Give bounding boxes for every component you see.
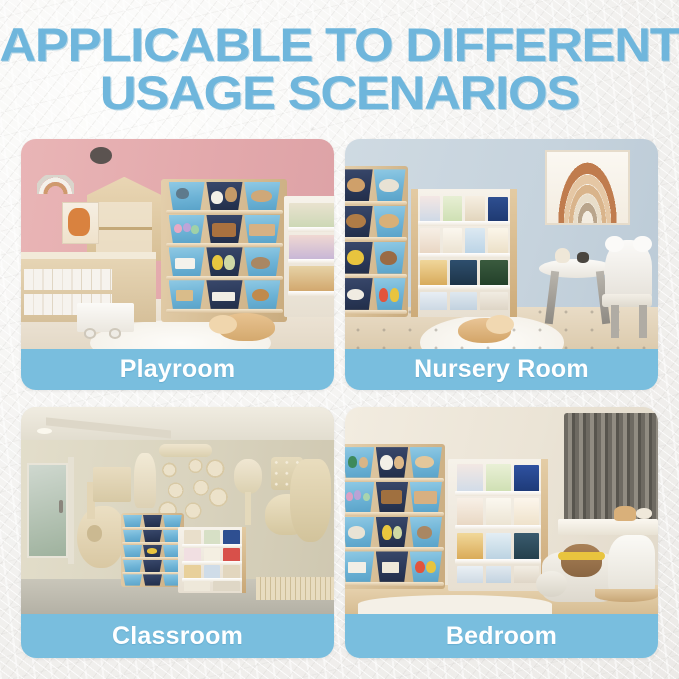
book: [443, 228, 463, 254]
book-rack-row: [289, 235, 334, 259]
organizer-tier: [169, 280, 281, 309]
book: [420, 228, 440, 254]
ceiling-light: [37, 428, 53, 434]
book-row: [184, 581, 240, 590]
book-row: [457, 464, 539, 490]
table-toy: [555, 248, 571, 263]
toy-cart-wheel-left: [84, 328, 97, 339]
storage-bin: [376, 551, 408, 581]
book: [420, 196, 440, 222]
storage-bin: [345, 169, 373, 201]
book: [289, 266, 334, 290]
organizer-tier: [345, 482, 442, 512]
bench-toy: [614, 506, 636, 520]
storage-bin: [345, 206, 373, 238]
book: [443, 196, 463, 222]
toy-storage-organizer: [345, 444, 445, 589]
book: [223, 565, 240, 578]
scenario-caption-nursery-room: Nursery Room: [345, 349, 658, 390]
storage-bin: [123, 574, 142, 585]
organizer-tier: [123, 560, 182, 573]
book-rack-row: [289, 266, 334, 290]
organizer-tier: [345, 551, 442, 581]
book: [420, 260, 447, 286]
storage-bin: [374, 206, 406, 238]
organizer-tier: [123, 515, 182, 528]
storage-bin: [376, 447, 408, 477]
book-row: [420, 260, 507, 286]
bear-plush: [561, 544, 602, 577]
organizer-tier: [345, 169, 406, 201]
book: [457, 498, 482, 524]
book: [465, 228, 485, 254]
organizer-tier: [345, 278, 406, 310]
storage-bin: [169, 215, 205, 244]
block-shelf: [256, 577, 334, 600]
shelf-lip: [418, 221, 510, 226]
storage-bin: [244, 280, 280, 309]
storage-bin: [376, 482, 408, 512]
shelf-side-right: [510, 189, 517, 317]
organizer-tier: [169, 247, 281, 276]
storage-bin: [410, 551, 442, 581]
scenario-photo-playroom: [21, 139, 334, 349]
scenario-grid: Playroom: [21, 139, 658, 658]
organizer-shelf: [345, 582, 444, 586]
storage-bin: [345, 278, 373, 310]
book: [457, 566, 482, 583]
door-frame-right: [68, 457, 74, 565]
shelf-lip: [455, 559, 541, 564]
book: [486, 464, 511, 490]
book: [184, 565, 201, 578]
toy-storage-organizer: [345, 166, 408, 317]
organizer-tier: [169, 215, 281, 244]
toy-storage-organizer: [121, 513, 184, 588]
rainbow-arch: [555, 156, 621, 223]
book-rack-lip: [288, 227, 334, 232]
book: [486, 533, 511, 559]
book-rack-side: [242, 527, 247, 593]
shelf-side-left: [411, 189, 418, 317]
organizer-tier: [345, 447, 442, 477]
book: [480, 292, 507, 310]
shelf-lip: [418, 253, 510, 258]
curtains: [564, 413, 658, 523]
book: [184, 581, 211, 590]
scenario-photo-bedroom: [345, 407, 658, 614]
book-row: [457, 566, 539, 583]
book: [488, 228, 508, 254]
book: [486, 498, 511, 524]
storage-bin: [410, 517, 442, 547]
book: [480, 260, 507, 286]
scenario-caption-playroom: Playroom: [21, 349, 334, 390]
page-title-line-2: USAGE SCENARIOS: [0, 70, 679, 115]
book: [223, 548, 240, 561]
organizer-tier: [345, 206, 406, 238]
wall-panel-square: [93, 467, 131, 502]
shelf-divider: [96, 227, 152, 230]
book-row: [184, 548, 240, 561]
organizer-tier: [345, 517, 442, 547]
storage-bin: [123, 545, 142, 558]
shelf-lip: [455, 525, 541, 530]
storage-bin: [123, 560, 142, 573]
scenario-card-bedroom[interactable]: Bedroom: [345, 407, 658, 658]
storage-bin: [345, 242, 373, 274]
storage-bin: [345, 517, 374, 547]
book: [289, 235, 334, 259]
page-title-line-1: APPLICABLE TO DIFFERENT: [0, 22, 679, 67]
scenario-card-playroom[interactable]: Playroom: [21, 139, 334, 390]
organizer-tier: [345, 242, 406, 274]
storage-bin: [169, 247, 205, 276]
drum-roll-wall-decor: [159, 444, 212, 456]
book: [514, 465, 539, 491]
storage-bin: [410, 482, 442, 512]
book: [450, 292, 477, 310]
organizer-tier: [169, 182, 281, 211]
storage-bin: [143, 515, 162, 528]
book: [465, 196, 485, 222]
storage-bin: [374, 169, 406, 201]
picture-book-shelf: [411, 189, 517, 317]
scenario-caption-bedroom: Bedroom: [345, 614, 658, 658]
storage-bin: [206, 215, 242, 244]
book: [514, 533, 539, 559]
storage-bin: [376, 517, 408, 547]
scenario-card-nursery-room[interactable]: Nursery Room: [345, 139, 658, 390]
storage-bin: [345, 447, 374, 477]
book-row: [457, 498, 539, 524]
book: [486, 566, 511, 583]
storage-bin: [410, 447, 442, 477]
cubby-bin-row: [24, 269, 112, 290]
storage-bin: [244, 182, 280, 211]
book: [514, 498, 539, 524]
book-row: [184, 530, 240, 543]
book-row: [457, 533, 539, 559]
storage-bin: [169, 280, 205, 309]
organizer-tier: [123, 574, 182, 585]
book: [184, 530, 201, 543]
book-row: [420, 292, 507, 310]
book: [204, 565, 221, 578]
glass-door-handle: [59, 500, 64, 512]
table-toy-2: [577, 252, 590, 263]
book: [457, 533, 482, 559]
storage-bin: [206, 280, 242, 309]
window-bench: [558, 519, 658, 536]
toy-cart-wheel-right: [109, 328, 122, 339]
book-row: [420, 228, 507, 254]
microphone-stem: [245, 492, 251, 525]
bench-toy-2: [636, 508, 652, 518]
book: [420, 292, 447, 310]
organizer-tier: [123, 530, 182, 543]
violin-wall-decor: [290, 459, 331, 542]
organizer-shelf: [345, 310, 407, 314]
shelf-lip: [418, 285, 510, 290]
bear-chair-leg-2: [639, 305, 647, 339]
book: [213, 581, 240, 590]
toy-storage-organizer: [165, 179, 284, 322]
organizer-shelf: [345, 237, 407, 241]
guitar-sound-hole: [87, 525, 103, 542]
book-rack: [284, 196, 334, 318]
storage-bin: [169, 182, 205, 211]
book: [223, 530, 240, 543]
book: [289, 203, 334, 227]
book-row: [420, 196, 507, 222]
counter-top: [21, 252, 156, 258]
bear-chair-ear-right: [633, 236, 652, 253]
organizer-tier: [123, 545, 182, 558]
storage-bin: [374, 242, 406, 274]
book: [488, 197, 508, 222]
organizer-shelf: [345, 201, 407, 205]
wall-fan: [90, 147, 112, 164]
storage-bin: [163, 515, 182, 528]
book: [457, 464, 482, 490]
storage-bin: [374, 278, 406, 310]
book-rack: [178, 527, 247, 593]
rainbow-wall-decor: [37, 175, 75, 194]
storage-bin: [143, 530, 162, 543]
storage-bin: [123, 530, 142, 543]
storage-bin: [345, 551, 374, 581]
toy-cart: [77, 303, 133, 332]
scenario-card-classroom[interactable]: Classroom: [21, 407, 334, 658]
storage-bin: [206, 182, 242, 211]
picture-book-shelf: [448, 459, 548, 591]
organizer-shelf: [345, 274, 407, 278]
storage-bin: [143, 574, 162, 585]
book: [204, 530, 221, 543]
page-title: APPLICABLE TO DIFFERENT USAGE SCENARIOS: [0, 22, 679, 115]
book-rack-lip: [288, 259, 334, 264]
bear-chair-ear-left: [605, 236, 624, 253]
book: [204, 548, 221, 561]
organizer-shelf: [166, 309, 283, 313]
storage-bin: [143, 545, 162, 558]
book-rack-row: [289, 203, 334, 227]
scenario-photo-classroom: [21, 407, 334, 614]
scenario-caption-classroom: Classroom: [21, 614, 334, 658]
storage-bin: [244, 215, 280, 244]
book-rack-lip: [288, 291, 334, 296]
rocking-horse: [608, 535, 655, 597]
microphone-wall-decor: [234, 459, 262, 494]
storage-bin: [123, 515, 142, 528]
storage-bin: [206, 247, 242, 276]
bear-chair-leg: [611, 305, 619, 339]
floor-rug: [358, 595, 552, 614]
scenario-photo-nursery-room: [345, 139, 658, 349]
book-row: [184, 565, 240, 578]
storage-bin: [143, 560, 162, 573]
book: [184, 548, 201, 561]
storage-bin: [345, 482, 374, 512]
book: [450, 260, 477, 286]
storage-bin: [244, 247, 280, 276]
shelf-lip: [455, 491, 541, 496]
bear-plush-hat: [558, 552, 605, 560]
rocking-horse-rocker: [595, 589, 658, 601]
framed-art-fox: [68, 208, 90, 235]
